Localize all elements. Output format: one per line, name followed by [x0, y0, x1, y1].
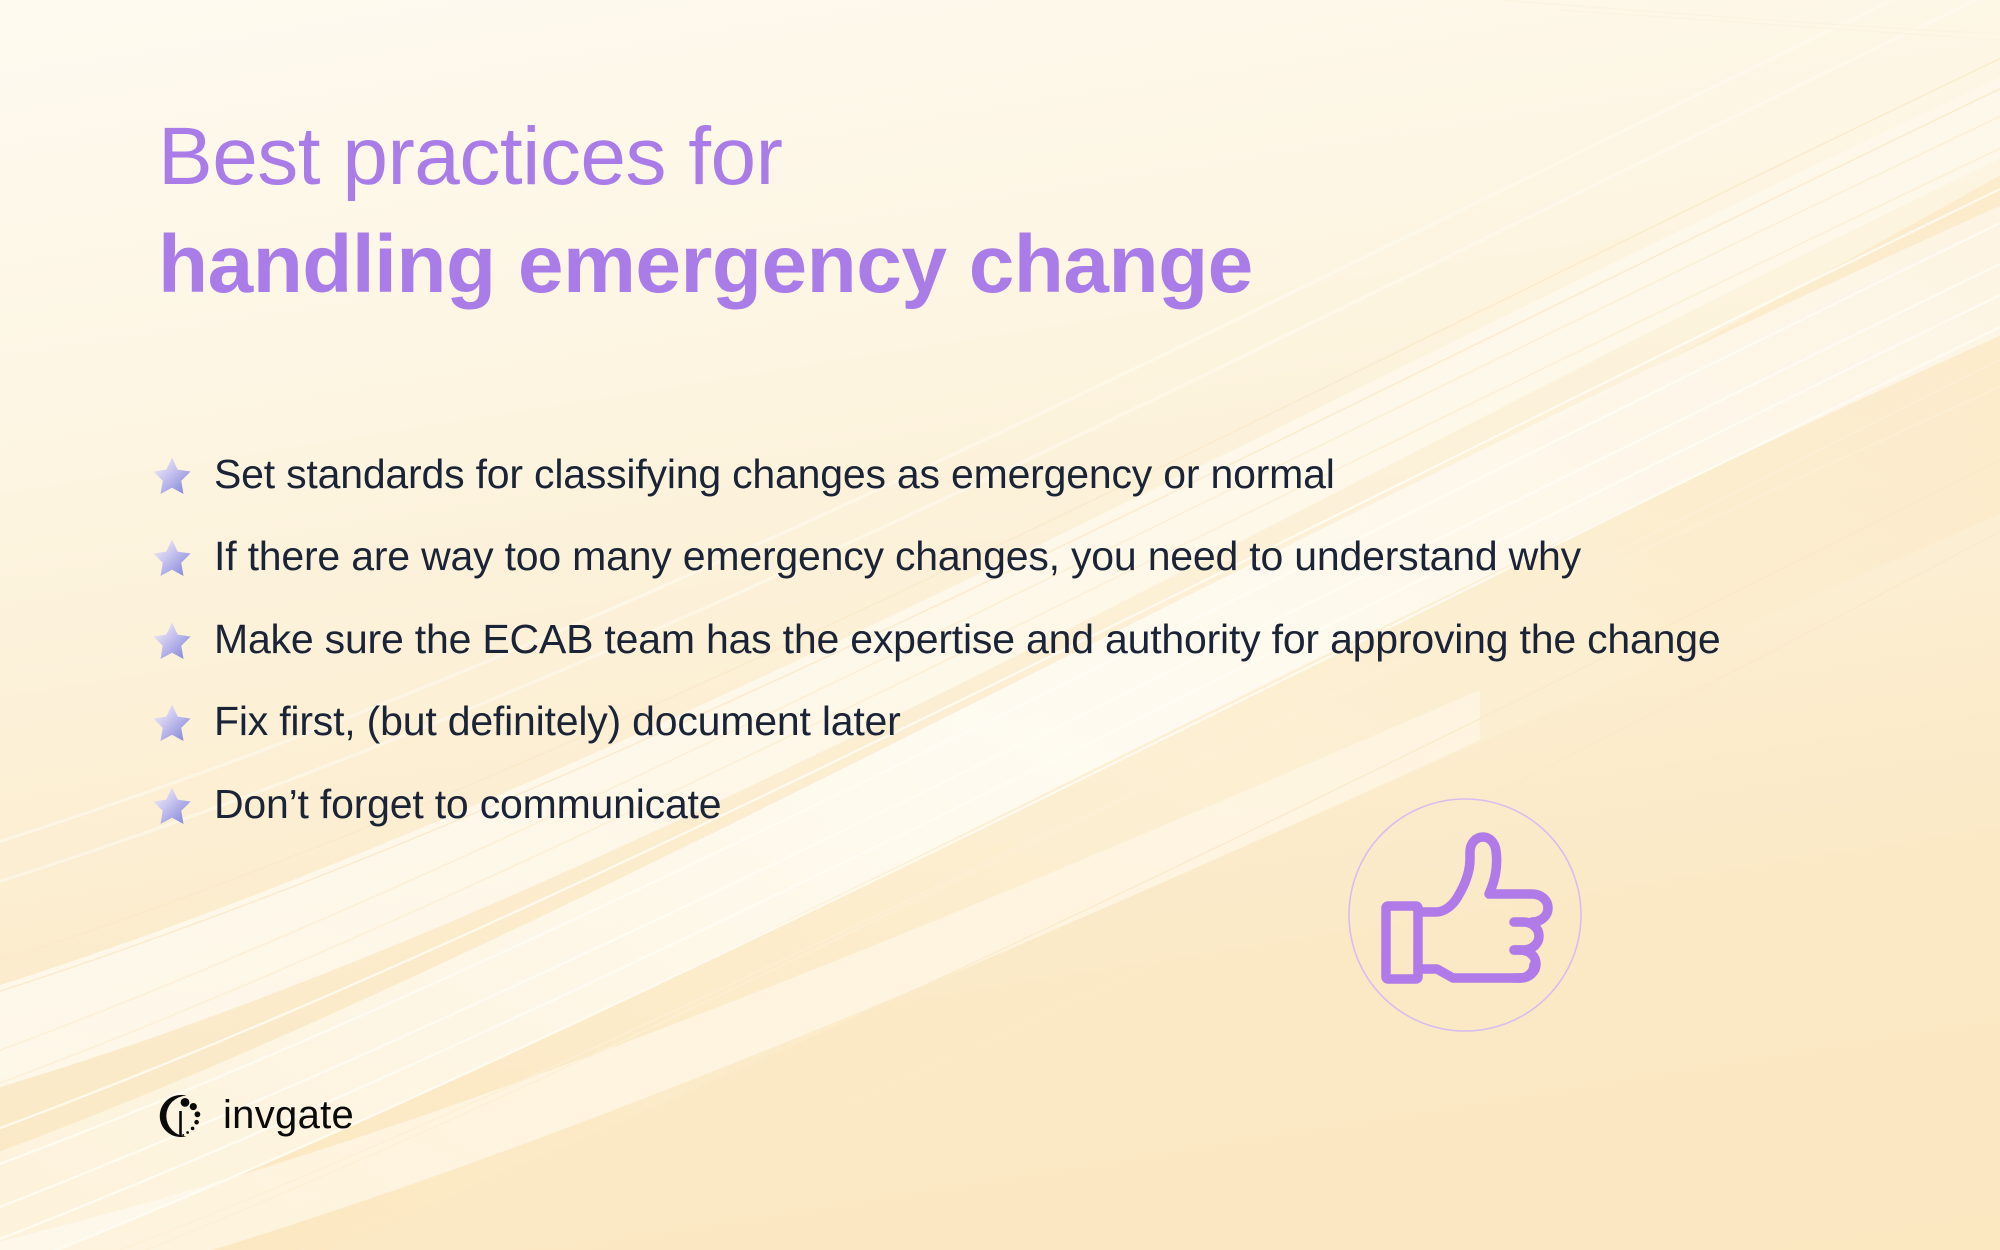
thumbs-up-icon: [1386, 837, 1548, 979]
list-item-text: Set standards for classifying changes as…: [214, 448, 1335, 500]
list-item-text: If there are way too many emergency chan…: [214, 530, 1581, 582]
list-item-text: Fix first, (but definitely) document lat…: [214, 695, 901, 747]
star-icon: [152, 621, 192, 661]
star-icon: [152, 456, 192, 496]
list-item: Set standards for classifying changes as…: [152, 448, 1872, 500]
page-title: Best practices for handling emergency ch…: [158, 116, 1253, 306]
invgate-wordmark: invgate: [223, 1093, 383, 1139]
best-practices-list: Set standards for classifying changes as…: [152, 448, 1872, 830]
star-icon: [152, 538, 192, 578]
star-icon: [152, 703, 192, 743]
thumbs-up-badge: [1340, 790, 1590, 1040]
list-item: Fix first, (but definitely) document lat…: [152, 695, 1872, 747]
list-item: Don’t forget to communicate: [152, 778, 1872, 830]
list-item: If there are way too many emergency chan…: [152, 530, 1872, 582]
invgate-logo: invgate: [155, 1090, 383, 1142]
list-item-text: Make sure the ECAB team has the expertis…: [214, 613, 1720, 665]
infographic-canvas: Best practices for handling emergency ch…: [0, 0, 2000, 1250]
star-icon: [152, 786, 192, 826]
title-line-2: handling emergency change: [158, 224, 1253, 306]
list-item: Make sure the ECAB team has the expertis…: [152, 613, 1872, 665]
title-line-1: Best practices for: [158, 116, 1253, 198]
svg-text:invgate: invgate: [223, 1093, 354, 1137]
invgate-mark-icon: [155, 1090, 207, 1142]
list-item-text: Don’t forget to communicate: [214, 778, 721, 830]
